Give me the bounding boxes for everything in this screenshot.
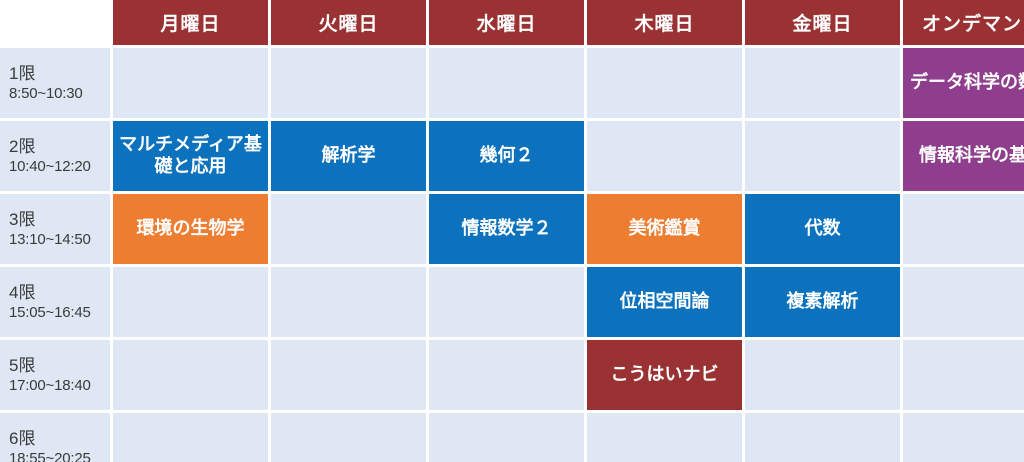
timetable-header-row: 月曜日 火曜日 水曜日 木曜日 金曜日 オンデマンド xyxy=(0,0,1024,45)
slot-tuesday-3[interactable] xyxy=(271,194,426,264)
period-time-3: 13:10~14:50 xyxy=(9,230,110,249)
period-number-2: 2限 xyxy=(9,136,110,158)
table-row-period-3: 3限 13:10~14:50 環境の生物学 情報数学２ 美術鑑賞 代数 xyxy=(0,194,1024,264)
period-time-4: 15:05~16:45 xyxy=(9,303,110,322)
period-time-1: 8:50~10:30 xyxy=(9,84,110,103)
period-label-2: 2限 10:40~12:20 xyxy=(0,121,110,191)
slot-monday-1[interactable] xyxy=(113,48,268,118)
slot-label: 代数 xyxy=(748,218,897,240)
slot-ondemand-3[interactable] xyxy=(903,194,1024,264)
period-time-5: 17:00~18:40 xyxy=(9,376,110,395)
slot-wednesday-1[interactable] xyxy=(429,48,584,118)
period-number-3: 3限 xyxy=(9,209,110,231)
slot-label: こうはいナビ xyxy=(590,364,739,386)
slot-friday-4[interactable]: 複素解析 xyxy=(745,267,900,337)
slot-label: 幾何２ xyxy=(432,145,581,167)
column-header-monday: 月曜日 xyxy=(113,0,268,45)
slot-label: 情報科学の基礎 xyxy=(906,145,1024,167)
slot-wednesday-4[interactable] xyxy=(429,267,584,337)
slot-tuesday-2[interactable]: 解析学 xyxy=(271,121,426,191)
slot-friday-6[interactable] xyxy=(745,413,900,462)
slot-tuesday-4[interactable] xyxy=(271,267,426,337)
period-label-1: 1限 8:50~10:30 xyxy=(0,48,110,118)
slot-label: 複素解析 xyxy=(748,291,897,313)
period-number-4: 4限 xyxy=(9,282,110,304)
table-row-period-2: 2限 10:40~12:20 マルチメディア基礎と応用 解析学 幾何２ 情報科学… xyxy=(0,121,1024,191)
slot-thursday-4[interactable]: 位相空間論 xyxy=(587,267,742,337)
slot-label: データ科学の数学 xyxy=(906,72,1024,94)
slot-thursday-2[interactable] xyxy=(587,121,742,191)
slot-ondemand-5[interactable] xyxy=(903,340,1024,410)
header-corner-cell xyxy=(0,0,110,45)
column-header-ondemand: オンデマンド xyxy=(903,0,1024,45)
period-number-5: 5限 xyxy=(9,355,110,377)
slot-ondemand-6[interactable] xyxy=(903,413,1024,462)
table-row-period-5: 5限 17:00~18:40 こうはいナビ xyxy=(0,340,1024,410)
table-row-period-6: 6限 18:55~20:25 xyxy=(0,413,1024,462)
period-time-6: 18:55~20:25 xyxy=(9,449,110,462)
slot-ondemand-4[interactable] xyxy=(903,267,1024,337)
slot-label: マルチメディア基礎と応用 xyxy=(116,134,265,177)
period-number-1: 1限 xyxy=(9,63,110,85)
slot-wednesday-5[interactable] xyxy=(429,340,584,410)
slot-tuesday-1[interactable] xyxy=(271,48,426,118)
slot-friday-3[interactable]: 代数 xyxy=(745,194,900,264)
column-header-wednesday: 水曜日 xyxy=(429,0,584,45)
slot-label: 解析学 xyxy=(274,145,423,167)
slot-label: 位相空間論 xyxy=(590,291,739,313)
slot-thursday-3[interactable]: 美術鑑賞 xyxy=(587,194,742,264)
slot-monday-2[interactable]: マルチメディア基礎と応用 xyxy=(113,121,268,191)
slot-tuesday-5[interactable] xyxy=(271,340,426,410)
slot-label: 情報数学２ xyxy=(432,218,581,240)
slot-thursday-5[interactable]: こうはいナビ xyxy=(587,340,742,410)
table-row-period-4: 4限 15:05~16:45 位相空間論 複素解析 xyxy=(0,267,1024,337)
period-label-4: 4限 15:05~16:45 xyxy=(0,267,110,337)
slot-ondemand-1[interactable]: データ科学の数学 xyxy=(903,48,1024,118)
column-header-thursday: 木曜日 xyxy=(587,0,742,45)
slot-tuesday-6[interactable] xyxy=(271,413,426,462)
slot-label: 美術鑑賞 xyxy=(590,218,739,240)
slot-friday-2[interactable] xyxy=(745,121,900,191)
timetable: 月曜日 火曜日 水曜日 木曜日 金曜日 オンデマンド 1限 8:50~10:30 xyxy=(0,0,1024,462)
slot-wednesday-6[interactable] xyxy=(429,413,584,462)
table-row-period-1: 1限 8:50~10:30 データ科学の数学 xyxy=(0,48,1024,118)
period-number-6: 6限 xyxy=(9,428,110,450)
slot-monday-5[interactable] xyxy=(113,340,268,410)
slot-wednesday-3[interactable]: 情報数学２ xyxy=(429,194,584,264)
slot-friday-1[interactable] xyxy=(745,48,900,118)
slot-thursday-6[interactable] xyxy=(587,413,742,462)
period-label-3: 3限 13:10~14:50 xyxy=(0,194,110,264)
period-label-6: 6限 18:55~20:25 xyxy=(0,413,110,462)
column-header-friday: 金曜日 xyxy=(745,0,900,45)
slot-thursday-1[interactable] xyxy=(587,48,742,118)
period-time-2: 10:40~12:20 xyxy=(9,157,110,176)
slot-label: 環境の生物学 xyxy=(116,218,265,240)
column-header-tuesday: 火曜日 xyxy=(271,0,426,45)
slot-monday-6[interactable] xyxy=(113,413,268,462)
period-label-5: 5限 17:00~18:40 xyxy=(0,340,110,410)
slot-wednesday-2[interactable]: 幾何２ xyxy=(429,121,584,191)
slot-monday-3[interactable]: 環境の生物学 xyxy=(113,194,268,264)
slot-ondemand-2[interactable]: 情報科学の基礎 xyxy=(903,121,1024,191)
slot-friday-5[interactable] xyxy=(745,340,900,410)
timetable-container: 月曜日 火曜日 水曜日 木曜日 金曜日 オンデマンド 1限 8:50~10:30 xyxy=(0,0,1024,459)
slot-monday-4[interactable] xyxy=(113,267,268,337)
